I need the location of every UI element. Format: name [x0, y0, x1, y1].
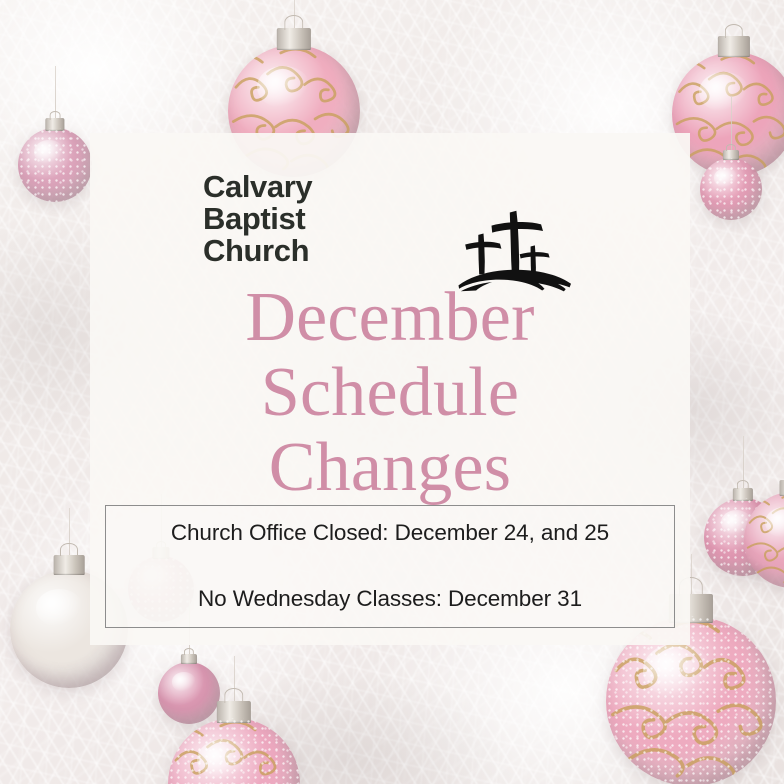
- ornament-cap: [217, 701, 251, 723]
- ornament-highlight: [257, 66, 310, 108]
- ornament-highlight: [197, 739, 250, 781]
- ornament-cap: [780, 480, 784, 496]
- ornament-highlight: [643, 643, 711, 697]
- church-name-line-3: Church: [203, 235, 312, 267]
- ornament-orn-top-left-glitter: [18, 128, 92, 202]
- notice-line-office-closed: Church Office Closed: December 24, and 2…: [106, 520, 674, 546]
- page-title-line-1: December: [90, 281, 690, 356]
- page-title: December Schedule Changes: [90, 281, 690, 506]
- ornament-highlight: [699, 72, 749, 112]
- church-name-line-1: Calvary: [203, 171, 312, 203]
- announcement-card: Calvary Baptist Church: [90, 133, 690, 645]
- page-title-line-3: Changes: [90, 431, 690, 506]
- ornament-cap: [45, 118, 64, 131]
- church-name: Calvary Baptist Church: [203, 171, 312, 267]
- ornament-cap: [723, 150, 739, 161]
- ornament-orn-bottom-left-gloss: [158, 662, 220, 724]
- church-name-line-2: Baptist: [203, 203, 312, 235]
- ornament-highlight: [172, 672, 197, 692]
- page-title-line-2: Schedule: [90, 356, 690, 431]
- ornament-highlight: [714, 168, 739, 188]
- ornament-cap: [54, 555, 85, 575]
- ornament-cap: [277, 28, 311, 50]
- notice-line-no-classes: No Wednesday Classes: December 31: [106, 586, 674, 612]
- ornament-highlight: [34, 140, 64, 164]
- ornament-cap: [733, 488, 753, 501]
- ornament-cap: [718, 36, 750, 57]
- ornament-highlight: [36, 589, 83, 627]
- ornament-orn-right-upper-small: [700, 158, 762, 220]
- ornament-cap: [181, 654, 197, 665]
- church-logo: Calvary Baptist Church: [90, 171, 690, 281]
- announcement-graphic: Calvary Baptist Church: [0, 0, 784, 784]
- schedule-notice-box: Church Office Closed: December 24, and 2…: [105, 505, 675, 628]
